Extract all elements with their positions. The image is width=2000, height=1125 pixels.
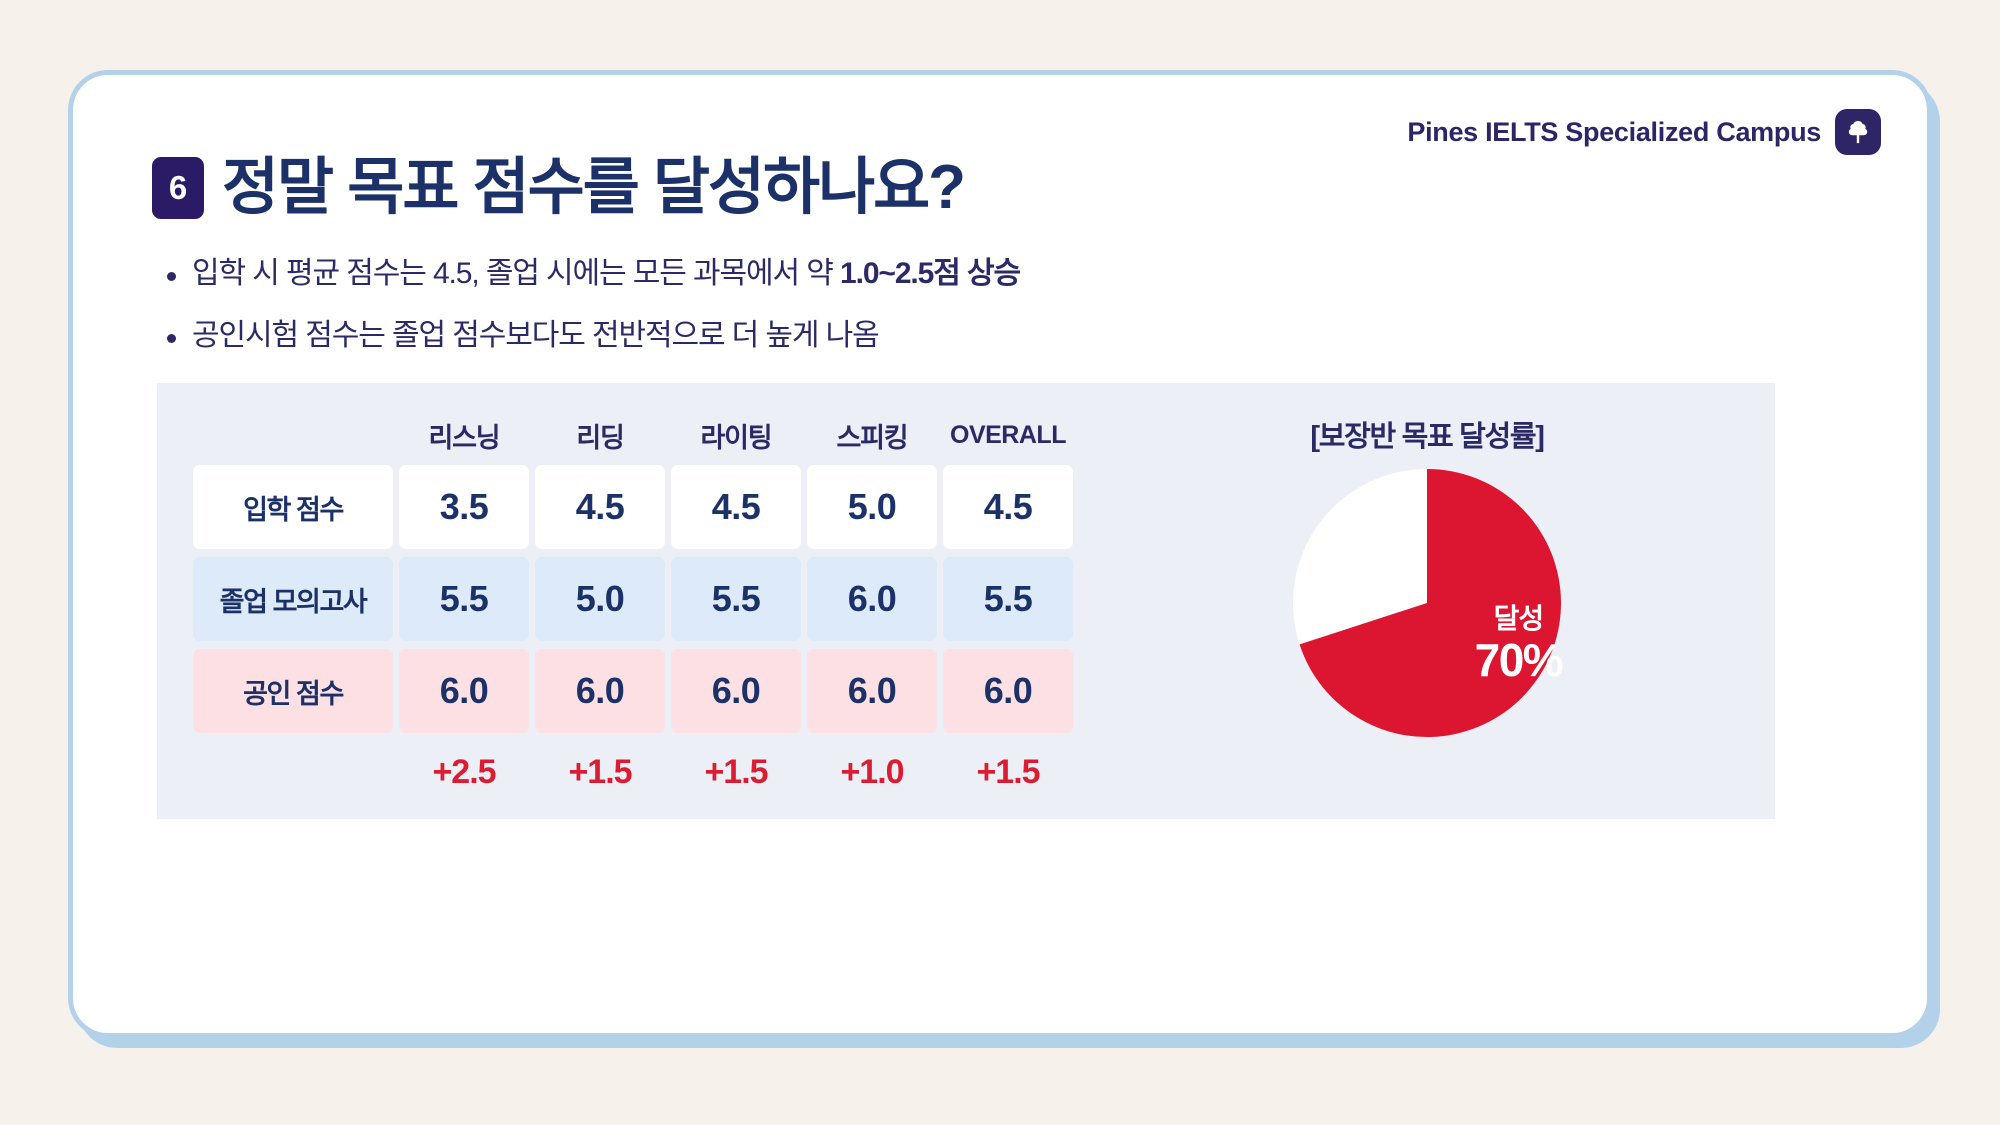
cell-official-writing: 6.0 [671,649,801,733]
chart-title: [보장반 목표 달성률] [1310,413,1543,455]
table-row: 입학 점수 3.5 4.5 4.5 5.0 4.5 [193,465,1073,549]
table-row: 졸업 모의고사 5.5 5.0 5.5 6.0 5.5 [193,557,1073,641]
cell-official-reading: 6.0 [535,649,665,733]
slide-root: Pines IELTS Specialized Campus 6 정말 목표 점… [0,0,2000,1125]
column-header-speaking: 스피킹 [807,413,937,457]
delta-listening: +2.5 [399,741,529,803]
pie-chart: 달성 70% [1293,469,1561,737]
cell-entry-reading: 4.5 [535,465,665,549]
cell-official-listening: 6.0 [399,649,529,733]
cell-grad-overall: 5.5 [943,557,1073,641]
cell-entry-listening: 3.5 [399,465,529,549]
bullet-dot-icon [167,334,176,343]
list-item: 입학 시 평균 점수는 4.5, 졸업 시에는 모든 과목에서 약 1.0~2.… [167,255,1567,293]
bullet-text-2: 공인시험 점수는 졸업 점수보다도 전반적으로 더 높게 나옴 [192,317,879,355]
table-header-row: 리스닝 리딩 라이팅 스피킹 OVERALL [193,413,1073,457]
column-header-writing: 라이팅 [671,413,801,457]
row-label-graduation-mock: 졸업 모의고사 [193,557,393,641]
cell-grad-writing: 5.5 [671,557,801,641]
delta-reading: +1.5 [535,741,665,803]
cell-grad-listening: 5.5 [399,557,529,641]
bullet-dot-icon [167,272,176,281]
score-table: 리스닝 리딩 라이팅 스피킹 OVERALL 입학 점수 3.5 4.5 4.5 [187,405,1079,811]
title-row: 6 정말 목표 점수를 달성하나요? [152,155,964,220]
score-table-wrap: 리스닝 리딩 라이팅 스피킹 OVERALL 입학 점수 3.5 4.5 4.5 [157,383,1079,811]
section-number-badge: 6 [152,157,204,219]
page-title: 정말 목표 점수를 달성하나요? [222,155,964,220]
cell-grad-speaking: 6.0 [807,557,937,641]
cell-grad-reading: 5.0 [535,557,665,641]
content-panel: 리스닝 리딩 라이팅 스피킹 OVERALL 입학 점수 3.5 4.5 4.5 [157,383,1775,819]
column-header-reading: 리딩 [535,413,665,457]
cell-entry-overall: 4.5 [943,465,1073,549]
brand-header: Pines IELTS Specialized Campus [1407,109,1881,155]
table-corner-cell [193,413,393,457]
list-item: 공인시험 점수는 졸업 점수보다도 전반적으로 더 높게 나옴 [167,317,1567,355]
table-delta-row: +2.5 +1.5 +1.5 +1.0 +1.5 [193,741,1073,803]
delta-overall: +1.5 [943,741,1073,803]
delta-speaking: +1.0 [807,741,937,803]
column-header-listening: 리스닝 [399,413,529,457]
pine-tree-icon [1835,109,1881,155]
table-row: 공인 점수 6.0 6.0 6.0 6.0 6.0 [193,649,1073,733]
cell-official-speaking: 6.0 [807,649,937,733]
delta-row-spacer [193,741,393,803]
achievement-chart-block: [보장반 목표 달성률] 달성 70% [1079,383,1775,737]
bullet-text-1: 입학 시 평균 점수는 4.5, 졸업 시에는 모든 과목에서 약 1.0~2.… [192,255,1020,293]
cell-official-overall: 6.0 [943,649,1073,733]
cell-entry-speaking: 5.0 [807,465,937,549]
column-header-overall: OVERALL [943,413,1073,457]
bullet-list: 입학 시 평균 점수는 4.5, 졸업 시에는 모든 과목에서 약 1.0~2.… [167,255,1567,380]
row-label-entry-score: 입학 점수 [193,465,393,549]
delta-writing: +1.5 [671,741,801,803]
brand-name: Pines IELTS Specialized Campus [1407,117,1821,148]
cell-entry-writing: 4.5 [671,465,801,549]
slide-card: Pines IELTS Specialized Campus 6 정말 목표 점… [68,70,1932,1038]
row-label-official-score: 공인 점수 [193,649,393,733]
